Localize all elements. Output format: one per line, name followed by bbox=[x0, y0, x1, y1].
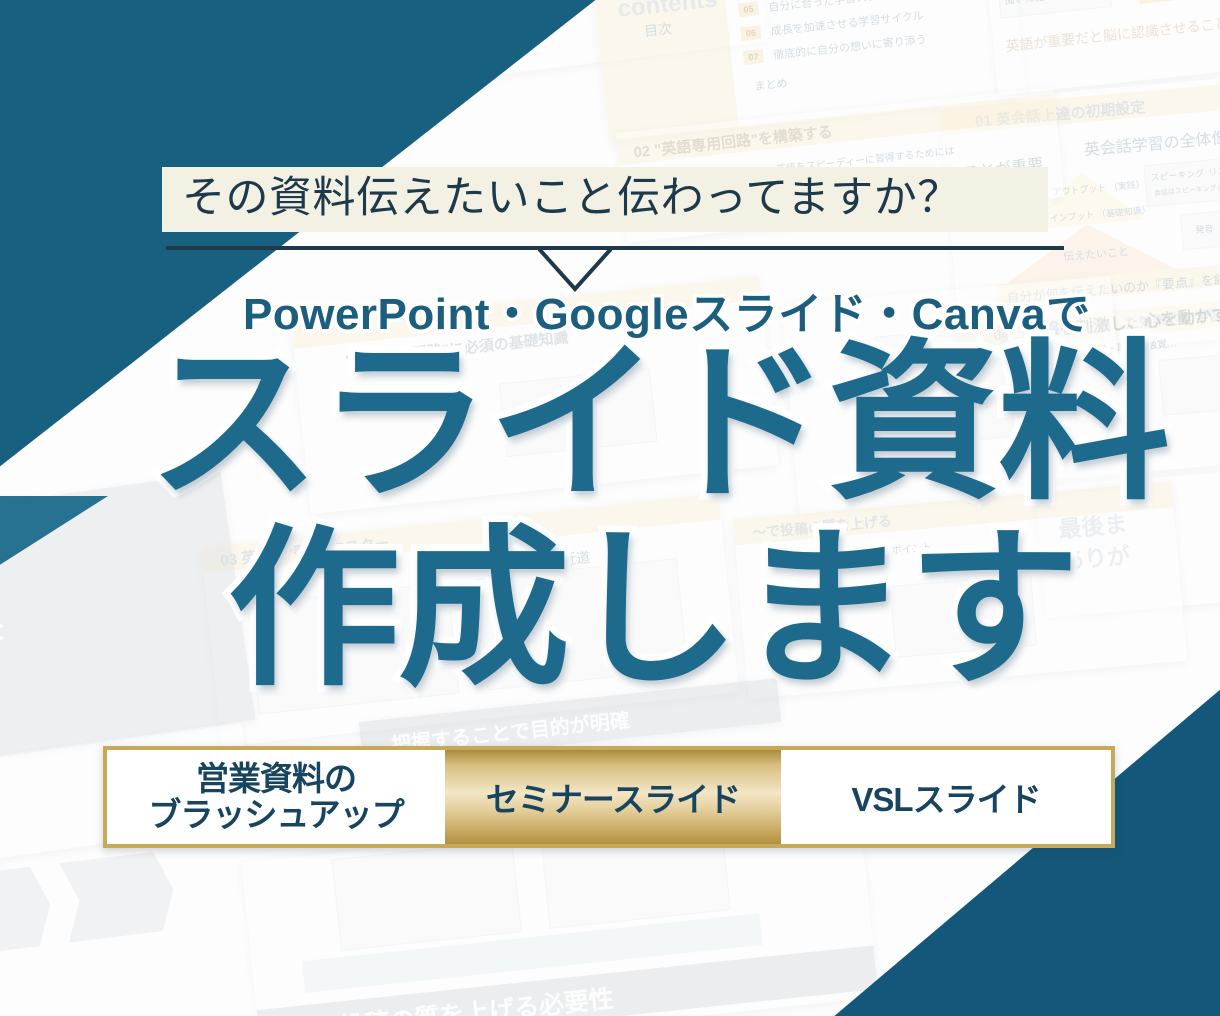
speech-bubble-body: その資料伝えたいこと伝わってますか？ bbox=[162, 167, 1048, 232]
headline-line-1: スライド資料 bbox=[148, 338, 1168, 510]
tab-label: セミナースライド bbox=[486, 773, 740, 821]
bg-text: 07 bbox=[743, 49, 764, 65]
tab-vsl-slide[interactable]: VSLスライド bbox=[781, 750, 1111, 844]
bg-text: 05 bbox=[738, 1, 759, 17]
tab-label-line1: 営業資料の bbox=[148, 761, 403, 797]
service-category-tabs: 営業資料の ブラッシュアップ セミナースライド VSLスライド bbox=[103, 746, 1115, 848]
bg-text: 記憶の司令塔"海馬" bbox=[1138, 0, 1220, 4]
speech-bubble: その資料伝えたいこと伝わってますか？ bbox=[162, 167, 1052, 232]
bg-text: 英語が重要だと脳に認識させること bbox=[1005, 13, 1220, 56]
bg-text: 06 bbox=[740, 25, 761, 41]
bg-text: 英会話学習の全体像 bbox=[1083, 124, 1220, 160]
promotional-banner: テンルール7 能力を磨く… を伸ばす！ contents 目次 04 五感＋感情… bbox=[0, 0, 1220, 1016]
speech-bubble-text: その資料伝えたいこと伝わってますか？ bbox=[182, 175, 1028, 222]
speech-bubble-underline bbox=[166, 246, 1064, 250]
tab-eigyo-shiryo-brushup[interactable]: 営業資料の ブラッシュアップ bbox=[107, 750, 445, 844]
tab-label-line2: ブラッシュアップ bbox=[148, 797, 403, 833]
bg-text: まとめ bbox=[754, 75, 788, 94]
tab-seminar-slide[interactable]: セミナースライド bbox=[445, 750, 781, 844]
headline-line-2: 作成します bbox=[228, 524, 1078, 696]
tab-label: VSLスライド bbox=[851, 773, 1040, 821]
bg-text: の投稿の質を bbox=[0, 609, 9, 667]
bg-text: 目次 bbox=[643, 18, 673, 41]
